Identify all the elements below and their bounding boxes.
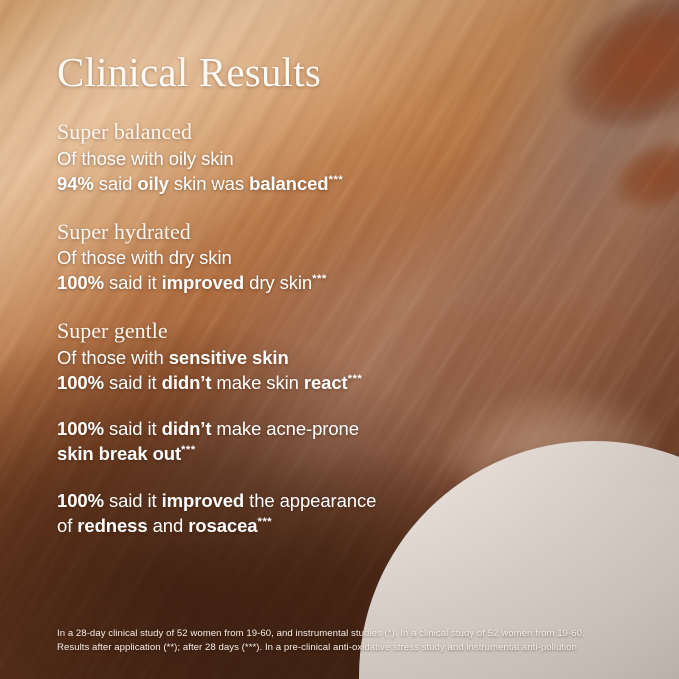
results-block: Super gentleOf those with sensitive skin… bbox=[57, 317, 537, 396]
plain-text: and bbox=[148, 515, 189, 536]
emphasis-text: didn’t bbox=[162, 372, 212, 393]
plain-text: said bbox=[94, 173, 138, 194]
page-title: Clinical Results bbox=[57, 52, 321, 93]
emphasis-text: improved bbox=[162, 490, 244, 511]
plain-text: Of those with dry skin bbox=[57, 247, 232, 268]
footnote-marker: *** bbox=[328, 174, 343, 186]
results-block-heading: Super hydrated bbox=[57, 218, 537, 246]
results-line: 100% said it didn’t make skin react*** bbox=[57, 371, 537, 396]
emphasis-text: improved bbox=[162, 272, 244, 293]
plain-text: Of those with bbox=[57, 347, 169, 368]
emphasis-text: 100% bbox=[57, 372, 104, 393]
results-line: Of those with dry skin bbox=[57, 246, 537, 271]
plain-text: said it bbox=[104, 372, 162, 393]
emphasis-text: sensitive skin bbox=[169, 347, 289, 368]
footnote-marker: *** bbox=[181, 444, 196, 456]
emphasis-text: didn’t bbox=[162, 418, 212, 439]
emphasis-text: skin break out bbox=[57, 443, 181, 464]
plain-text: skin was bbox=[169, 173, 249, 194]
emphasis-text: 100% bbox=[57, 272, 104, 293]
plain-text: Of those with oily skin bbox=[57, 148, 234, 169]
plain-text: of bbox=[57, 515, 77, 536]
plain-text: make skin bbox=[211, 372, 303, 393]
results-block: 100% said it didn’t make acne-proneskin … bbox=[57, 417, 537, 467]
emphasis-text: 100% bbox=[57, 418, 104, 439]
results-line: 94% said oily skin was balanced*** bbox=[57, 172, 537, 197]
results-block: 100% said it improved the appearanceof r… bbox=[57, 489, 537, 539]
emphasis-text: 100% bbox=[57, 490, 104, 511]
footnote-text: In a 28-day clinical study of 52 women f… bbox=[57, 627, 637, 655]
results-line: 100% said it didn’t make acne-prone bbox=[57, 417, 537, 442]
results-block-heading: Super balanced bbox=[57, 118, 537, 146]
results-line: 100% said it improved the appearance bbox=[57, 489, 537, 514]
plain-text: the appearance bbox=[244, 490, 376, 511]
results-line: 100% said it improved dry skin*** bbox=[57, 271, 537, 296]
emphasis-text: rosacea bbox=[188, 515, 257, 536]
content-area: Clinical Results Super balancedOf those … bbox=[0, 0, 679, 679]
plain-text: said it bbox=[104, 418, 162, 439]
results-block-list: Super balancedOf those with oily skin94%… bbox=[57, 118, 537, 561]
emphasis-text: 94% bbox=[57, 173, 94, 194]
results-block-heading: Super gentle bbox=[57, 317, 537, 345]
footnote-marker: *** bbox=[348, 373, 363, 385]
plain-text: dry skin bbox=[244, 272, 312, 293]
plain-text: make acne-prone bbox=[211, 418, 359, 439]
results-block: Super balancedOf those with oily skin94%… bbox=[57, 118, 537, 197]
footnote-line: Results after application (**); after 28… bbox=[57, 641, 637, 655]
emphasis-text: react bbox=[304, 372, 348, 393]
footnote-line: In a 28-day clinical study of 52 women f… bbox=[57, 627, 637, 641]
results-line: Of those with oily skin bbox=[57, 147, 537, 172]
emphasis-text: redness bbox=[77, 515, 147, 536]
clinical-results-panel: Clinical Results Super balancedOf those … bbox=[0, 0, 679, 679]
emphasis-text: oily bbox=[137, 173, 168, 194]
results-line: of redness and rosacea*** bbox=[57, 514, 537, 539]
emphasis-text: balanced bbox=[249, 173, 328, 194]
results-line: Of those with sensitive skin bbox=[57, 346, 537, 371]
results-block: Super hydratedOf those with dry skin100%… bbox=[57, 218, 537, 297]
plain-text: said it bbox=[104, 490, 162, 511]
plain-text: said it bbox=[104, 272, 162, 293]
results-line: skin break out*** bbox=[57, 442, 537, 467]
footnote-marker: *** bbox=[257, 516, 272, 528]
footnote-marker: *** bbox=[312, 273, 327, 285]
